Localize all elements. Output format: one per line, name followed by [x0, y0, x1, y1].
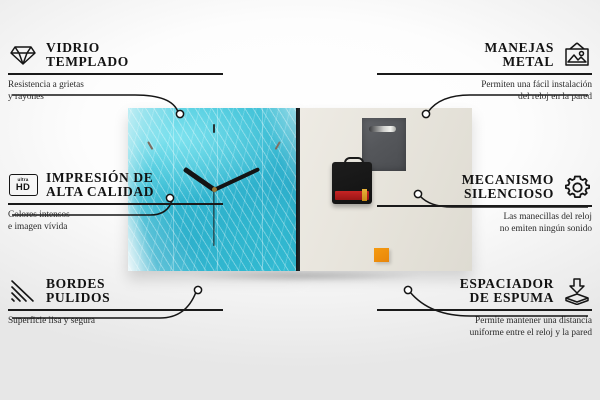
gear-icon [562, 172, 592, 202]
feature-impresion-alta-calidad: ultra HD IMPRESIÓN DE ALTA CALIDAD Color… [8, 170, 223, 233]
ultra-hd-icon: ultra HD [8, 170, 38, 200]
feature-title: ESPACIADOR [460, 277, 554, 292]
foam-spacer [374, 248, 389, 262]
diamond-icon [8, 40, 38, 70]
feature-bordes-pulidos: BORDES PULIDOS Superficie lisa y segura [8, 276, 223, 327]
feature-title-2: METAL [485, 55, 554, 70]
feature-title-2: DE ESPUMA [460, 291, 554, 306]
feature-desc-1: Permiten una fácil instalación [377, 79, 592, 91]
feature-desc-1: Superficie lisa y segura [8, 315, 223, 327]
feature-title-2: ALTA CALIDAD [46, 185, 154, 200]
feature-manejas-metal: MANEJAS METAL Permiten una fácil instala… [377, 40, 592, 103]
feature-desc-2: uniforme entre el reloj y la pared [377, 327, 592, 339]
infographic-canvas: VIDRIO TEMPLADO Resistencia a grietas y … [0, 0, 600, 400]
battery-compartment [335, 191, 369, 200]
feature-desc-2: del reloj en la pared [377, 91, 592, 103]
feature-mecanismo-silencioso: MECANISMO SILENCIOSO Las manecillas del … [377, 172, 592, 235]
feature-desc-2: y rayones [8, 91, 223, 103]
feature-title-2: SILENCIOSO [462, 187, 554, 202]
feature-title: BORDES [46, 277, 110, 292]
polished-edges-icon [8, 276, 38, 306]
feature-rule [377, 205, 592, 207]
feature-espaciador-espuma: ESPACIADOR DE ESPUMA Permite mantener un… [377, 276, 592, 339]
feature-title: MECANISMO [462, 173, 554, 188]
hanger-keyhole-slot [369, 126, 396, 132]
ultra-hd-icon-main: HD [16, 183, 30, 193]
picture-hanger-icon [562, 40, 592, 70]
mechanism-hook [344, 157, 364, 168]
feature-desc-1: Permite mantener una distancia [377, 315, 592, 327]
feature-title: MANEJAS [485, 41, 554, 56]
feature-title: VIDRIO [46, 41, 129, 56]
feature-desc-2: e imagen vívida [8, 221, 223, 233]
feature-rule [377, 73, 592, 75]
foam-spacer-icon [562, 276, 592, 306]
clock-mechanism [332, 162, 372, 204]
feature-rule [8, 73, 223, 75]
feature-desc-1: Las manecillas del reloj [377, 211, 592, 223]
feature-rule [377, 309, 592, 311]
feature-title-2: PULIDOS [46, 291, 110, 306]
feature-title-2: TEMPLADO [46, 55, 129, 70]
feature-desc-2: no emiten ningún sonido [377, 223, 592, 235]
feature-vidrio-templado: VIDRIO TEMPLADO Resistencia a grietas y … [8, 40, 223, 103]
feature-rule [8, 309, 223, 311]
feature-title: IMPRESIÓN DE [46, 171, 154, 186]
feature-desc-1: Colores intensos [8, 209, 223, 221]
feature-desc-1: Resistencia a grietas [8, 79, 223, 91]
feature-rule [8, 203, 223, 205]
